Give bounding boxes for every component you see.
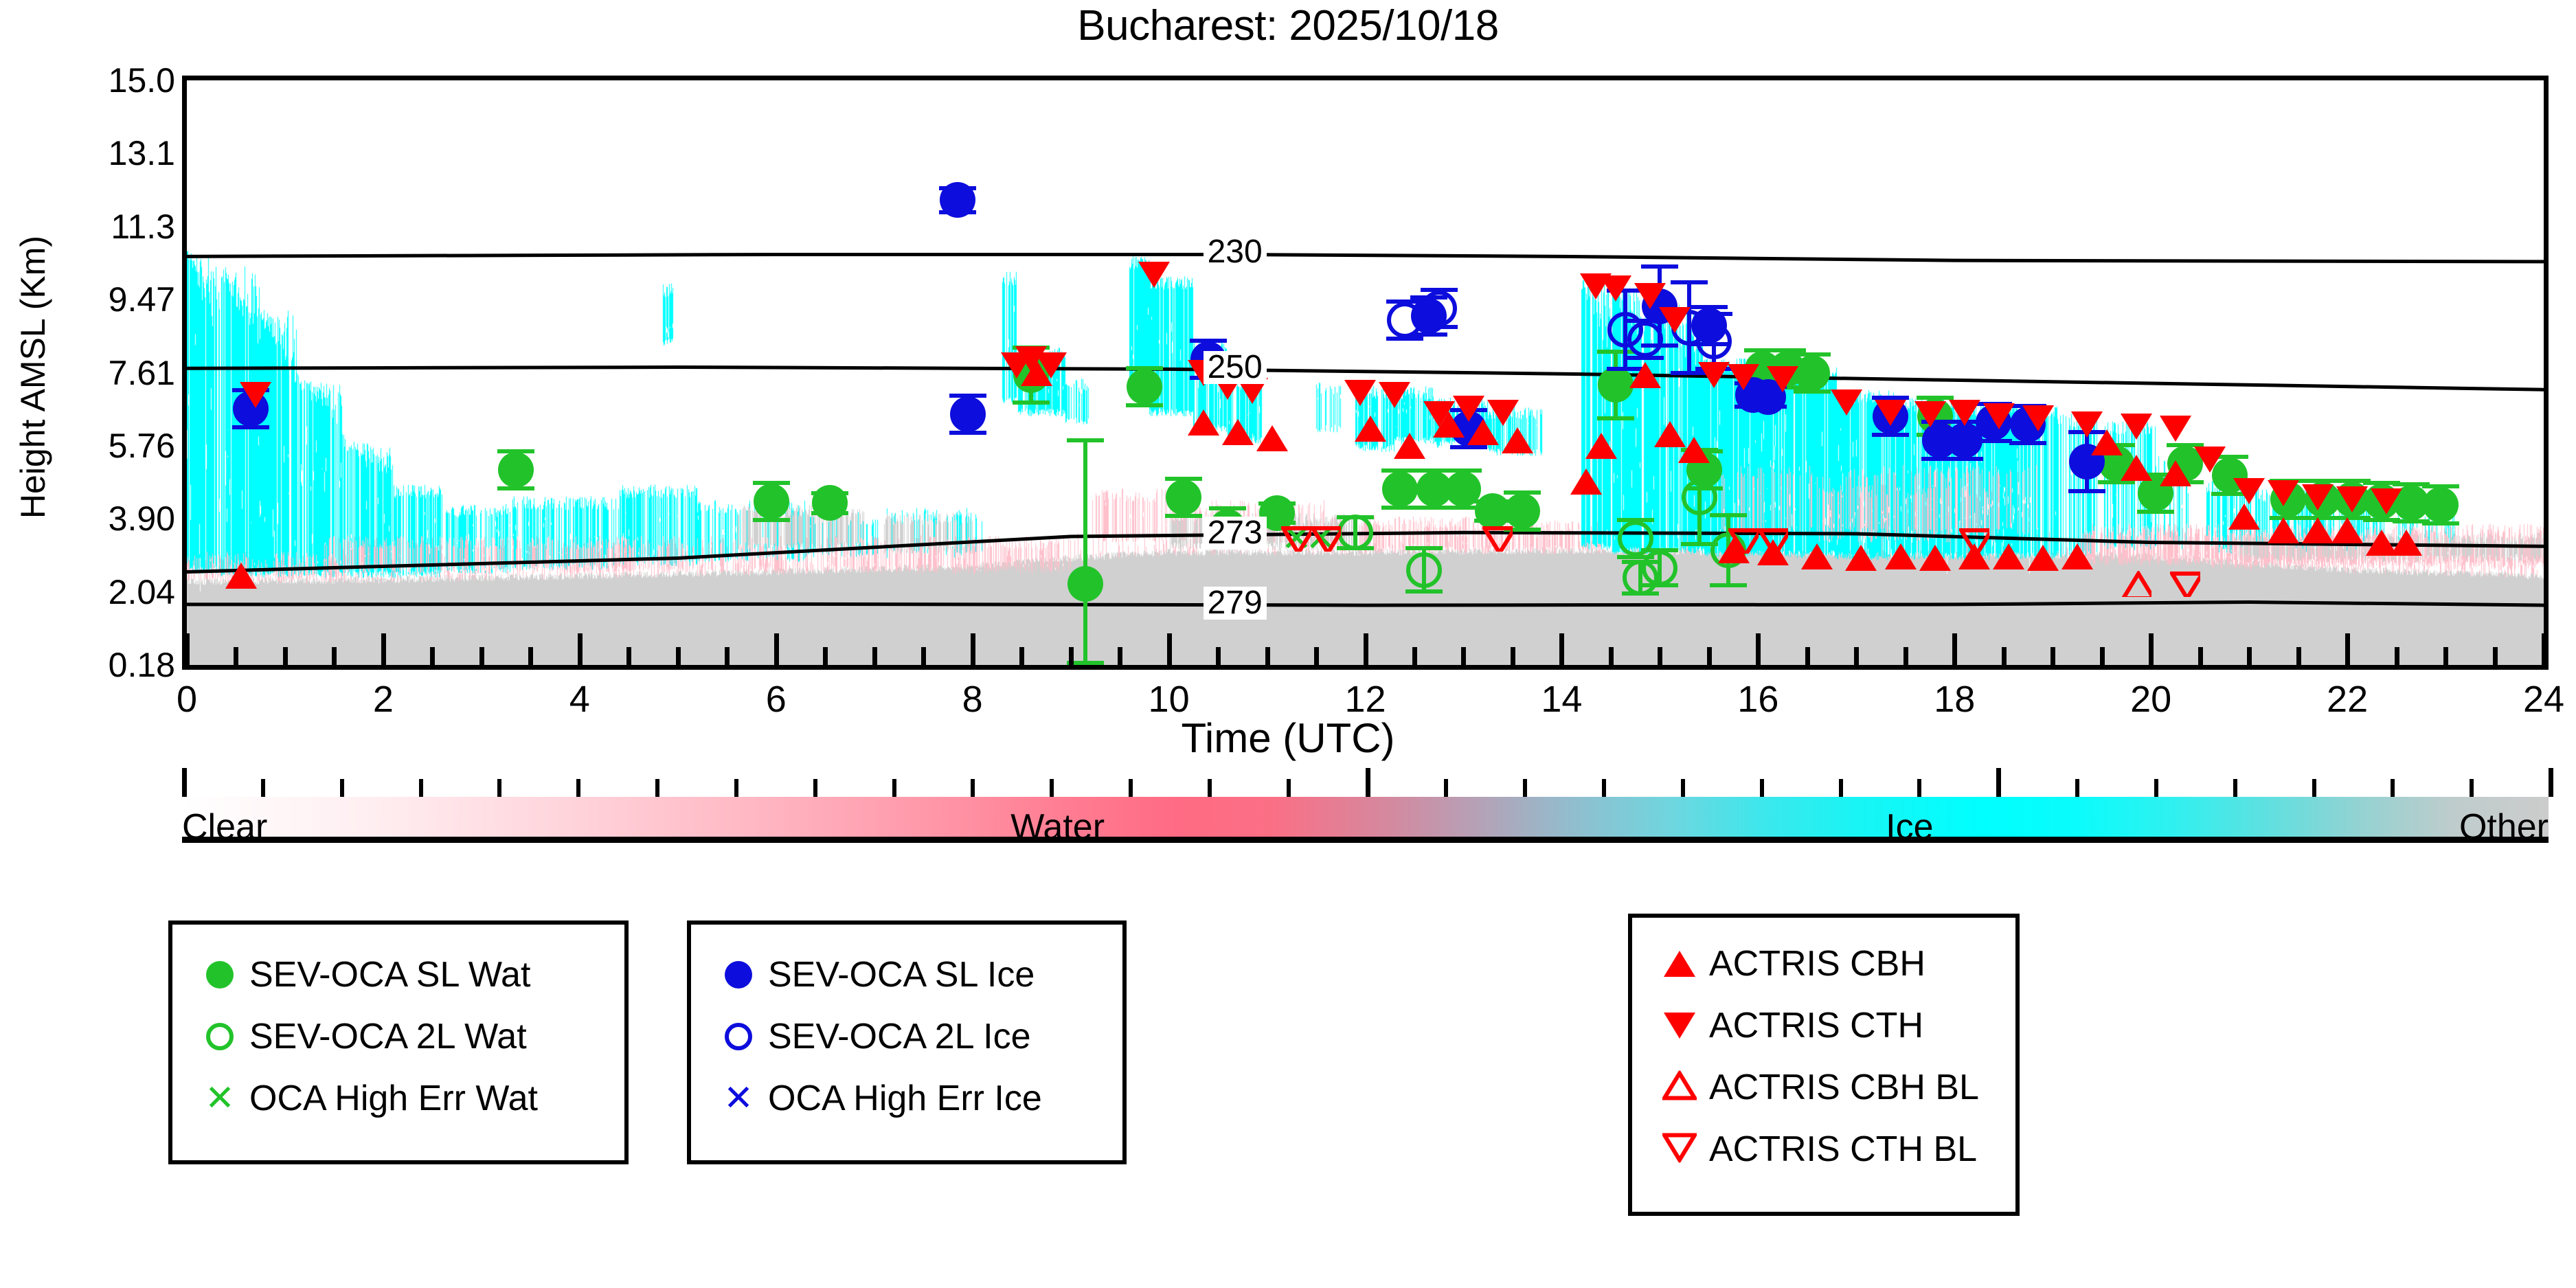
x-tick-major xyxy=(1167,633,1172,665)
x-tick-minor xyxy=(872,647,877,665)
colorbar-tick xyxy=(1760,779,1764,797)
x-tick-minor xyxy=(1609,647,1614,665)
colorbar-tick xyxy=(1208,779,1212,797)
marker-actris-cth xyxy=(1831,389,1862,416)
marker-actris-cth xyxy=(2336,486,2368,512)
marker-sev-oca-sl-wat xyxy=(1794,355,1830,391)
marker-actris-cbh xyxy=(1993,543,2024,569)
colorbar-tick xyxy=(1917,779,1921,797)
y-tick-label: 5.76 xyxy=(109,426,175,466)
colorbar-tick xyxy=(2549,768,2553,797)
marker-actris-cth-bl xyxy=(2170,571,2200,597)
x-tick-major xyxy=(1952,633,1957,665)
marker-actris-cth xyxy=(1728,364,1759,390)
marker-actris-cth xyxy=(1344,380,1376,406)
plot-area[interactable]: ✕✕ 230250273279 xyxy=(182,76,2549,670)
colorbar-tick xyxy=(2312,779,2316,797)
colorbar-tick xyxy=(734,779,738,797)
x-tick-label: 8 xyxy=(962,678,983,721)
colorbar-tick xyxy=(1050,779,1054,797)
legend-symbol xyxy=(1650,1057,1709,1118)
x-tick-label: 6 xyxy=(766,678,787,721)
legend-label: SEV-OCA SL Ice xyxy=(768,954,1035,995)
marker-actris-cbh-bl xyxy=(2121,571,2151,597)
x-tick-minor xyxy=(2395,647,2399,665)
colorbar-tick xyxy=(1602,779,1606,797)
marker-actris-cbh xyxy=(1222,419,1254,445)
legend-item[interactable]: ACTRIS CTH xyxy=(1650,995,2015,1057)
marker-actris-cth xyxy=(2233,478,2265,504)
legend-symbol xyxy=(709,944,768,1006)
marker-actris-cth-bl xyxy=(1482,526,1513,552)
marker-actris-cbh xyxy=(1188,409,1219,436)
marker-sev-oca-sl-wat xyxy=(1127,369,1162,405)
marker-actris-cbh xyxy=(1585,433,1617,459)
y-tick-label: 0.18 xyxy=(109,645,175,685)
x-tick-label: 16 xyxy=(1737,678,1778,721)
x-axis-label: Time (UTC) xyxy=(0,714,2576,762)
marker-actris-cbh xyxy=(2061,543,2093,569)
x-tick-major xyxy=(1756,633,1761,665)
marker-sev-oca-sl-wat xyxy=(1598,367,1634,403)
legend-label: ACTRIS CTH BL xyxy=(1709,1129,1977,1170)
marker-actris-cth xyxy=(2268,480,2299,506)
y-tick-label: 7.61 xyxy=(109,353,175,393)
marker-actris-cth xyxy=(1983,403,2015,429)
marker-actris-cth xyxy=(1698,362,1730,388)
marker-actris-cth xyxy=(240,382,271,408)
legend-item[interactable]: SEV-OCA 2L Wat xyxy=(190,1006,624,1067)
x-tick-label: 24 xyxy=(2523,678,2564,721)
x-tick-minor xyxy=(430,647,435,665)
x-tick-minor xyxy=(823,647,828,665)
colorbar-tick xyxy=(576,779,580,797)
x-tick-minor xyxy=(1019,647,1024,665)
x-tick-minor xyxy=(725,647,730,665)
marker-actris-cth xyxy=(1659,307,1691,333)
open-circle-blue-icon xyxy=(725,1023,752,1050)
colorbar-tick xyxy=(261,779,265,797)
y-tick-label: 2.04 xyxy=(109,572,175,612)
x-tick-minor xyxy=(2296,647,2301,665)
marker-actris-cbh xyxy=(2121,455,2152,481)
marker-actris-cth xyxy=(2160,416,2191,442)
marker-actris-cth xyxy=(2121,414,2152,440)
x-tick-major xyxy=(185,633,190,665)
x-tick-label: 12 xyxy=(1344,678,1386,721)
x-tick-label: 14 xyxy=(1541,678,1582,721)
x-blue-icon: ✕ xyxy=(723,1081,754,1116)
colorbar-tick xyxy=(419,779,423,797)
marker-actris-cth-bl xyxy=(1311,526,1341,552)
colorbar-gradient xyxy=(182,797,2549,837)
legend-symbol xyxy=(709,1006,768,1067)
isotherm-label-279: 279 xyxy=(1204,587,1267,620)
x-tick-minor xyxy=(479,647,484,665)
x-tick-major xyxy=(1364,633,1368,665)
colorbar-tick xyxy=(1523,779,1527,797)
legend-actris[interactable]: ACTRIS CBHACTRIS CTHACTRIS CBH BLACTRIS … xyxy=(1628,914,2020,1216)
x-tick-minor xyxy=(1314,647,1319,665)
x-green-icon: ✕ xyxy=(205,1081,235,1116)
marker-actris-cbh xyxy=(1629,362,1661,388)
x-tick-minor xyxy=(1265,647,1270,665)
colorbar-tick xyxy=(182,768,187,797)
colorbar-tick xyxy=(2075,779,2079,797)
marker-actris-cbh xyxy=(1256,425,1288,451)
legend-symbol: ✕ xyxy=(190,1067,249,1129)
plot-clip: ✕✕ 230250273279 xyxy=(187,80,2544,665)
marker-sev-oca-sl-ice xyxy=(940,182,975,218)
x-tick-major xyxy=(2345,633,2350,665)
marker-actris-cbh xyxy=(1355,416,1386,442)
marker-actris-cbh xyxy=(2160,460,2191,486)
marker-sev-oca-2l-ice xyxy=(1421,291,1457,326)
x-tick-label: 18 xyxy=(1934,678,1975,721)
marker-actris-cth xyxy=(2071,411,2103,438)
marker-actris-cth xyxy=(2022,405,2054,431)
colorbar-tick xyxy=(1444,779,1448,797)
colorbar-tick xyxy=(1839,779,1843,797)
colorbar-label-other: Other xyxy=(2459,806,2549,848)
x-tick-major xyxy=(578,633,583,665)
marker-actris-cth-bl xyxy=(1959,528,1989,554)
x-tick-major xyxy=(381,633,386,665)
marker-sev-oca-2l-wat xyxy=(1337,515,1373,550)
x-tick-major xyxy=(1559,633,1564,665)
x-tick-minor xyxy=(2247,647,2252,665)
legend-item[interactable]: ✕OCA High Err Wat xyxy=(190,1067,624,1129)
colorbar-tick xyxy=(2470,779,2474,797)
legend-item[interactable]: SEV-OCA SL Wat xyxy=(190,944,624,1006)
legend-label: OCA High Err Ice xyxy=(768,1078,1042,1119)
marker-actris-cth-bl xyxy=(1758,528,1788,554)
marker-sev-oca-sl-wat xyxy=(1382,471,1418,507)
legend-symbol xyxy=(1650,995,1709,1057)
marker-actris-cth xyxy=(1423,401,1455,427)
marker-sev-oca-2l-ice xyxy=(1387,302,1423,338)
x-tick-minor xyxy=(332,647,337,665)
legend-label: SEV-OCA SL Wat xyxy=(249,954,530,995)
legend-symbol: ✕ xyxy=(709,1067,768,1129)
x-tick-minor xyxy=(2493,647,2498,665)
marker-actris-cth xyxy=(1138,262,1170,288)
x-tick-label: 10 xyxy=(1149,678,1190,721)
marker-actris-cbh xyxy=(2027,545,2059,571)
x-tick-label: 20 xyxy=(2130,678,2171,721)
isotherm-line-230 xyxy=(187,254,2544,261)
x-tick-label: 4 xyxy=(569,678,590,721)
colorbar-tick xyxy=(813,779,817,797)
marker-actris-cbh xyxy=(1919,545,1951,571)
open-triangle-up-red-icon xyxy=(1662,1071,1697,1105)
legend-label: SEV-OCA 2L Wat xyxy=(249,1016,527,1057)
colorbar-tick xyxy=(340,779,344,797)
x-tick-minor xyxy=(1412,647,1417,665)
colorbar-tick xyxy=(1366,768,1370,797)
marker-sev-oca-sl-wat xyxy=(1166,479,1201,515)
marker-actris-cbh xyxy=(2302,517,2334,543)
marker-actris-cth xyxy=(1949,400,1980,426)
legend-item[interactable]: SEV-OCA 2L Ice xyxy=(709,1006,1122,1067)
marker-actris-cbh xyxy=(1801,543,1833,569)
marker-actris-cbh xyxy=(2331,517,2363,543)
marker-sev-oca-sl-ice xyxy=(950,396,986,432)
y-axis-label: Height AMSL (Km) xyxy=(13,164,53,590)
colorbar-label-water: Water xyxy=(1010,806,1105,848)
marker-actris-cth xyxy=(1634,283,1666,309)
legend-symbol xyxy=(1650,1118,1709,1180)
x-tick-minor xyxy=(2002,647,2007,665)
y-tick-label: 15.0 xyxy=(109,60,175,100)
x-tick-minor xyxy=(234,647,238,665)
legend-item[interactable]: ACTRIS CTH BL xyxy=(1650,1118,2015,1180)
x-tick-label: 2 xyxy=(373,678,394,721)
legend-label: SEV-OCA 2L Ice xyxy=(768,1016,1030,1057)
marker-sev-oca-sl-wat xyxy=(2423,487,2459,523)
colorbar-label-ice: Ice xyxy=(1886,806,1933,848)
marker-actris-cth xyxy=(1453,396,1484,422)
y-tick-label: 9.47 xyxy=(109,280,175,319)
x-tick-minor xyxy=(2443,647,2448,665)
x-tick-minor xyxy=(626,647,631,665)
marker-actris-cbh xyxy=(1394,433,1425,459)
x-tick-minor xyxy=(1903,647,1908,665)
x-tick-minor xyxy=(676,647,681,665)
marker-actris-cth xyxy=(1600,275,1631,302)
x-tick-major xyxy=(971,633,975,665)
x-tick-minor xyxy=(283,647,288,665)
marker-actris-cbh xyxy=(2268,517,2299,543)
marker-actris-cbh xyxy=(1502,427,1533,453)
y-tick-label: 3.90 xyxy=(109,499,175,539)
legend-ice[interactable]: SEV-OCA SL IceSEV-OCA 2L Ice✕OCA High Er… xyxy=(687,920,1127,1164)
colorbar-tick xyxy=(1996,768,2001,797)
marker-actris-cbh xyxy=(1885,543,1917,569)
colorbar-tick xyxy=(2233,779,2237,797)
filled-triangle-up-red-icon xyxy=(1664,951,1695,977)
marker-sev-oca-2l-wat xyxy=(1682,479,1717,515)
legend-item[interactable]: ACTRIS CBH BL xyxy=(1650,1057,2015,1118)
x-tick-major xyxy=(2149,633,2154,665)
marker-actris-cbh xyxy=(1845,545,1877,571)
legend-symbol xyxy=(1650,933,1709,995)
colorbar-tick xyxy=(1287,779,1291,797)
marker-actris-cbh xyxy=(2228,504,2260,530)
colorbar-tick xyxy=(892,779,896,797)
marker-actris-cth xyxy=(1035,352,1067,379)
marker-actris-cbh xyxy=(2391,530,2422,556)
x-tick-minor xyxy=(1658,647,1662,665)
marker-actris-cth xyxy=(1767,366,1798,392)
marker-actris-cbh xyxy=(1570,468,1602,495)
isotherm-label-230: 230 xyxy=(1204,236,1267,269)
marker-actris-cth xyxy=(1875,400,1906,426)
legend-label: ACTRIS CBH xyxy=(1709,943,1925,984)
x-tick-minor xyxy=(1461,647,1466,665)
colorbar-label-clear: Clear xyxy=(182,806,267,848)
isotherm-line-279 xyxy=(187,602,2544,605)
legend-symbol xyxy=(190,1006,249,1067)
x-tick-minor xyxy=(921,647,926,665)
x-tick-minor xyxy=(2100,647,2105,665)
marker-sev-oca-sl-wat xyxy=(1504,493,1540,529)
isotherm-label-250: 250 xyxy=(1204,351,1267,384)
x-tick-minor xyxy=(2198,647,2203,665)
y-tick-label: 13.1 xyxy=(109,133,175,173)
legend-water[interactable]: SEV-OCA SL WatSEV-OCA 2L Wat✕OCA High Er… xyxy=(168,920,629,1164)
legend-label: OCA High Err Wat xyxy=(249,1078,538,1119)
colorbar-tick xyxy=(2391,779,2395,797)
x-tick-minor xyxy=(1511,647,1515,665)
marker-actris-cth-bl xyxy=(1281,526,1311,552)
colorbar[interactable]: ClearWaterIceOther xyxy=(182,797,2549,843)
page-title: Bucharest: 2025/10/18 xyxy=(0,1,2576,50)
marker-actris-cbh xyxy=(1678,437,1710,463)
colorbar-tick xyxy=(655,779,659,797)
marker-actris-cth xyxy=(1379,382,1410,408)
marker-actris-cth xyxy=(1487,400,1519,426)
x-tick-major xyxy=(2542,633,2546,665)
legend-item[interactable]: SEV-OCA SL Ice xyxy=(709,944,1122,1006)
legend-item[interactable]: ✕OCA High Err Ice xyxy=(709,1067,1122,1129)
x-tick-minor xyxy=(1118,647,1122,665)
marker-sev-oca-2l-ice xyxy=(1627,321,1663,357)
x-tick-minor xyxy=(2050,647,2055,665)
marker-sev-oca-sl-wat xyxy=(1067,566,1103,602)
open-circle-green-icon xyxy=(206,1023,234,1050)
marker-sev-oca-sl-wat xyxy=(812,485,848,521)
marker-sev-oca-sl-wat xyxy=(754,484,789,519)
isotherm-label-273: 273 xyxy=(1204,517,1267,550)
x-tick-label: 22 xyxy=(2327,678,2368,721)
x-tick-minor xyxy=(1707,647,1712,665)
marker-actris-cth-bl xyxy=(1728,528,1759,554)
marker-actris-cth xyxy=(2302,484,2334,510)
marker-actris-cth xyxy=(1914,401,1946,427)
legend-symbol xyxy=(190,944,249,1006)
x-tick-minor xyxy=(1805,647,1810,665)
marker-sev-oca-2l-wat xyxy=(1406,552,1442,588)
colorbar-tick xyxy=(497,779,501,797)
filled-circle-green-icon xyxy=(206,961,234,988)
x-tick-minor xyxy=(1069,647,1074,665)
x-tick-minor xyxy=(528,647,533,665)
marker-actris-cbh xyxy=(225,563,257,589)
filled-circle-blue-icon xyxy=(725,961,752,988)
x-tick-label: 0 xyxy=(177,678,197,721)
x-tick-minor xyxy=(1216,647,1221,665)
marker-actris-cth xyxy=(2194,447,2226,473)
legend-label: ACTRIS CTH xyxy=(1709,1005,1923,1046)
colorbar-axis xyxy=(182,837,2549,843)
marker-sev-oca-2l-wat xyxy=(1623,560,1658,596)
open-triangle-down-red-icon xyxy=(1662,1133,1697,1166)
marker-actris-cth xyxy=(2371,488,2402,515)
colorbar-tick xyxy=(1681,779,1685,797)
marker-sev-oca-2l-ice xyxy=(1696,324,1732,359)
filled-triangle-down-red-icon xyxy=(1664,1013,1695,1039)
x-tick-minor xyxy=(1854,647,1859,665)
x-tick-major xyxy=(774,633,779,665)
marker-sev-oca-sl-wat xyxy=(498,452,534,488)
legend-label: ACTRIS CBH BL xyxy=(1709,1067,1979,1108)
colorbar-tick xyxy=(1129,779,1133,797)
legend-item[interactable]: ACTRIS CBH xyxy=(1650,933,2015,995)
colorbar-tick xyxy=(2154,779,2158,797)
y-tick-label: 11.3 xyxy=(111,207,175,247)
colorbar-tick xyxy=(971,779,975,797)
